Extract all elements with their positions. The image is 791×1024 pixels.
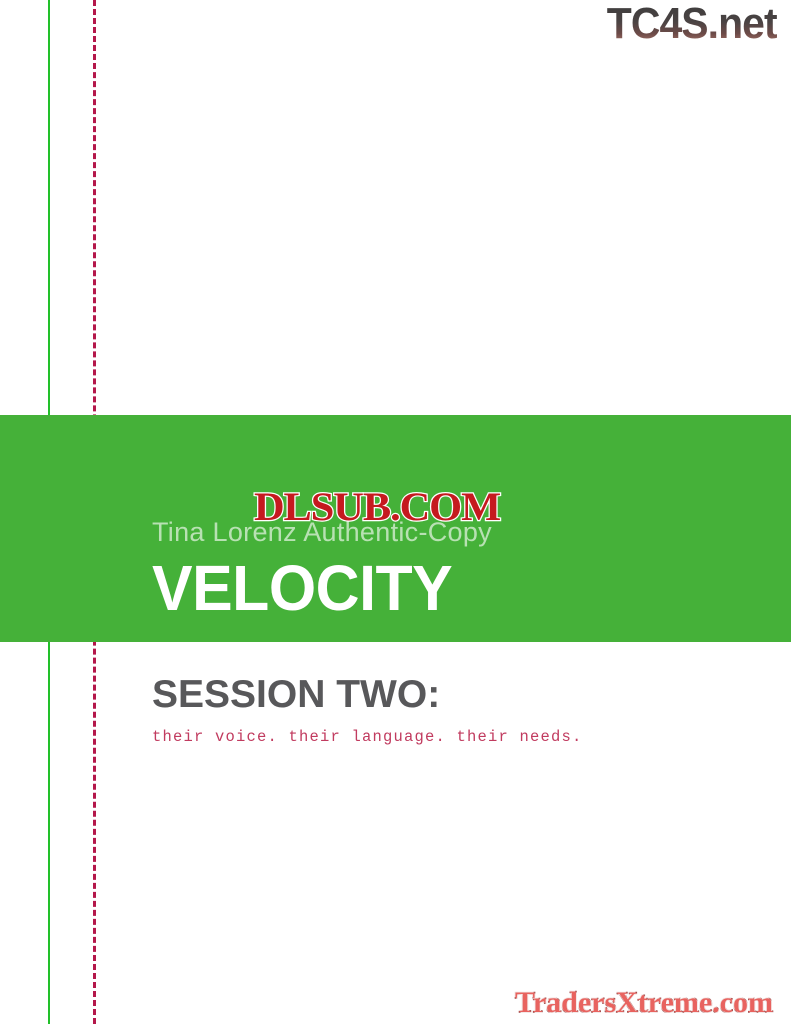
- watermark-dlsub: DLSUB.COM: [254, 487, 500, 527]
- document-page: TC4S.net Tina Lorenz Authentic-Copy VELO…: [0, 0, 791, 1024]
- site-logo-tc4s: TC4S.net: [607, 2, 777, 46]
- session-subtitle: their voice. their language. their needs…: [152, 730, 583, 746]
- session-heading: SESSION TWO:: [152, 675, 440, 714]
- page-title: VELOCITY: [152, 556, 452, 620]
- watermark-tradersxtreme: TradersXtreme.com: [515, 988, 773, 1018]
